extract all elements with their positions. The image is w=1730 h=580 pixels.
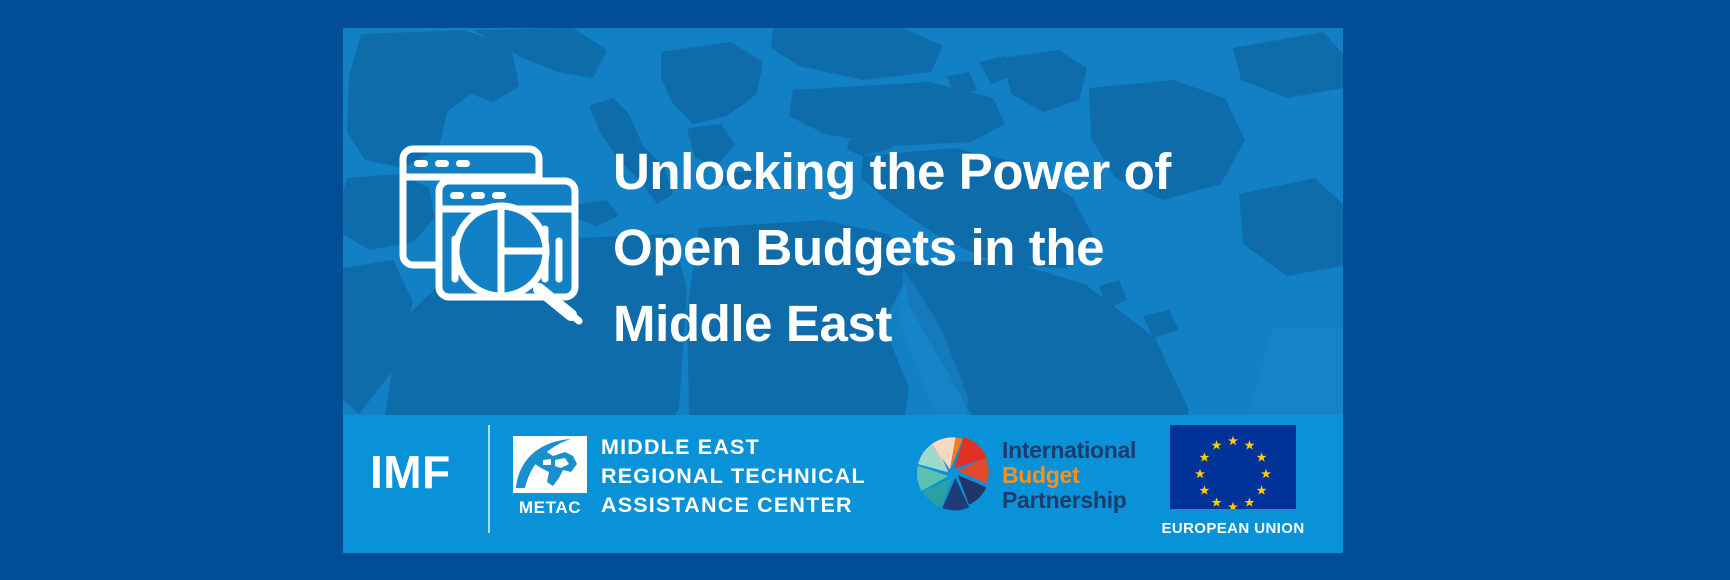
metac-line-1: MIDDLE EAST <box>601 433 866 462</box>
page-title: Unlocking the Power of Open Budgets in t… <box>613 134 1313 362</box>
title-line-1: Unlocking the Power of <box>613 134 1313 210</box>
logo-divider <box>488 425 490 533</box>
ibp-line-2: Budget <box>1002 463 1136 488</box>
ibp-line-1: International <box>1002 438 1136 463</box>
eu-caption: EUROPEAN UNION <box>1161 520 1304 537</box>
european-union-flag-icon <box>1170 425 1296 509</box>
banner-root: Unlocking the Power of Open Budgets in t… <box>0 0 1730 580</box>
metac-globe-icon <box>513 436 587 493</box>
ibp-line-3: Partnership <box>1002 488 1136 513</box>
hero-section: Unlocking the Power of Open Budgets in t… <box>343 28 1343 415</box>
metac-fullname: MIDDLE EAST REGIONAL TECHNICAL ASSISTANC… <box>601 433 866 520</box>
title-line-3: Middle East <box>613 286 1313 362</box>
metac-line-3: ASSISTANCE CENTER <box>601 491 866 520</box>
eu-logo: EUROPEAN UNION <box>1153 425 1313 537</box>
metac-logo: METAC MIDDLE EAST REGIONAL TECHNICAL ASS… <box>513 433 866 520</box>
ibp-pinwheel-icon <box>910 429 996 521</box>
metac-mark: METAC <box>513 436 587 518</box>
imf-logo: IMF <box>370 445 451 499</box>
banner-card: Unlocking the Power of Open Budgets in t… <box>343 28 1343 553</box>
ibp-logo: International Budget Partnership <box>910 429 1136 521</box>
ibp-wordmark: International Budget Partnership <box>1002 438 1136 513</box>
open-budget-dashboard-magnifier-icon <box>393 133 593 325</box>
metac-wordmark: METAC <box>519 498 581 518</box>
title-line-2: Open Budgets in the <box>613 210 1313 286</box>
partner-logos-bar: IMF <box>343 415 1343 553</box>
metac-line-2: REGIONAL TECHNICAL <box>601 462 866 491</box>
